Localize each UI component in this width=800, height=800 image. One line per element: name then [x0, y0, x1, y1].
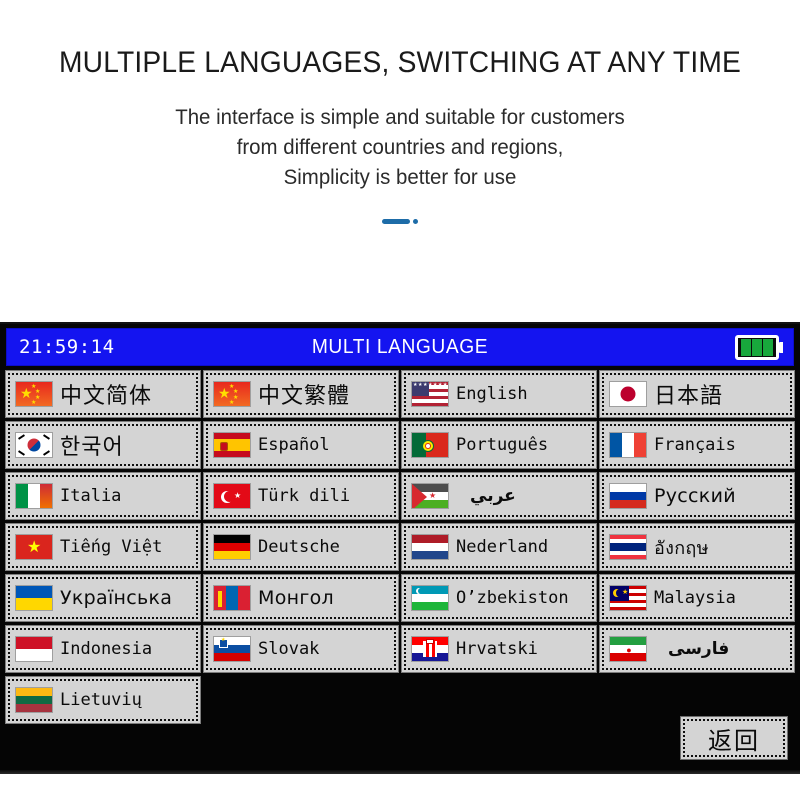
language-button[interactable]: 한국어	[5, 421, 201, 469]
language-button[interactable]: อังกฤษ	[599, 523, 795, 571]
indonesia-flag	[15, 636, 53, 662]
thailand-flag	[609, 534, 647, 560]
portugal-flag	[411, 432, 449, 458]
language-button-label: English	[456, 384, 528, 404]
china-flag: ★★★★★	[213, 381, 251, 407]
arabic-flag: ★	[411, 483, 449, 509]
language-button-label: Deutsche	[258, 537, 340, 557]
language-button-label: Lietuvių	[60, 690, 142, 710]
language-button[interactable]: Монгол	[203, 574, 399, 622]
germany-flag	[213, 534, 251, 560]
vietnam-flag: ★	[15, 534, 53, 560]
japan-flag	[609, 381, 647, 407]
language-button[interactable]: Deutsche	[203, 523, 399, 571]
mongolia-flag	[213, 585, 251, 611]
language-button-label: Indonesia	[60, 639, 152, 659]
language-button-label: Русский	[654, 485, 736, 507]
language-button-label: O’zbekiston	[456, 588, 569, 608]
language-button-label: Malaysia	[654, 588, 736, 608]
language-button-label: Slovak	[258, 639, 319, 659]
status-bar: 21:59:14 MULTI LANGUAGE	[6, 328, 794, 366]
language-button[interactable]: ★★★★★中文繁體	[203, 370, 399, 418]
screen-title: MULTI LANGUAGE	[23, 336, 778, 359]
language-button-label: Français	[654, 435, 736, 455]
language-button[interactable]: ●فارسی	[599, 625, 795, 673]
language-button-label: Монгол	[258, 587, 334, 609]
language-button[interactable]: Русский	[599, 472, 795, 520]
language-button[interactable]: Nederland	[401, 523, 597, 571]
language-button-label: อังกฤษ	[654, 533, 709, 562]
language-button-label: فارسی	[668, 639, 729, 659]
language-button-label: 中文繁體	[258, 378, 350, 410]
language-button[interactable]: 日本語	[599, 370, 795, 418]
spain-flag	[213, 432, 251, 458]
language-button-label: Українська	[60, 587, 172, 609]
promo-header: MULTIPLE LANGUAGES, SWITCHING AT ANY TIM…	[0, 0, 800, 230]
language-button-label: 한국어	[60, 429, 124, 461]
southkorea-flag	[15, 432, 53, 458]
france-flag	[609, 432, 647, 458]
language-button-label: Português	[456, 435, 548, 455]
language-button[interactable]: ★Türk dili	[203, 472, 399, 520]
language-button-label: Español	[258, 435, 330, 455]
lithuania-flag	[15, 687, 53, 713]
language-button[interactable]: Italia	[5, 472, 201, 520]
slovenia-flag: ★	[213, 636, 251, 662]
china-flag: ★★★★★	[15, 381, 53, 407]
promo-subtitle-line-3: Simplicity is better for use	[20, 162, 780, 192]
language-button-label: Nederland	[456, 537, 548, 557]
language-button[interactable]: ★★★★★★★★★★★★★★★English	[401, 370, 597, 418]
language-button-label: عربي	[470, 486, 516, 506]
back-button[interactable]: 返回	[680, 716, 788, 760]
ukraine-flag	[15, 585, 53, 611]
language-grid: ★★★★★中文简体★★★★★中文繁體★★★★★★★★★★★★★★★English…	[5, 370, 795, 724]
malaysia-flag: ★	[609, 585, 647, 611]
battery-nub	[779, 342, 783, 353]
croatia-flag	[411, 636, 449, 662]
uzbekistan-flag	[411, 585, 449, 611]
language-button[interactable]: Lietuvių	[5, 676, 201, 724]
back-button-label: 返回	[708, 721, 760, 756]
turkey-flag: ★	[213, 483, 251, 509]
language-button-label: Italia	[60, 486, 121, 506]
language-button-label: Tiếng Việt	[60, 537, 162, 557]
language-button[interactable]: Українська	[5, 574, 201, 622]
language-button[interactable]: ★★★★★中文简体	[5, 370, 201, 418]
promo-subtitle-line-2: from different countries and regions,	[20, 132, 780, 162]
divider-bar	[382, 219, 410, 224]
battery-icon	[735, 335, 783, 360]
battery-shell	[735, 335, 779, 360]
iran-flag: ●	[609, 636, 647, 662]
russia-flag	[609, 483, 647, 509]
language-button[interactable]: O’zbekiston	[401, 574, 597, 622]
promo-subtitle: The interface is simple and suitable for…	[20, 102, 780, 192]
language-button[interactable]: Português	[401, 421, 597, 469]
battery-cell	[752, 339, 762, 356]
language-button[interactable]: Hrvatski	[401, 625, 597, 673]
divider-dot	[413, 219, 418, 224]
language-button-label: Türk dili	[258, 486, 350, 506]
italy-flag	[15, 483, 53, 509]
battery-cell	[763, 339, 773, 356]
language-button[interactable]: Indonesia	[5, 625, 201, 673]
language-button[interactable]: Français	[599, 421, 795, 469]
language-button[interactable]: ★عربي	[401, 472, 597, 520]
netherlands-flag	[411, 534, 449, 560]
language-button[interactable]: Español	[203, 421, 399, 469]
accent-divider	[379, 212, 421, 230]
battery-cell	[741, 339, 751, 356]
device-screen: 21:59:14 MULTI LANGUAGE ★★★★★中文简体★★★★★中文…	[0, 322, 800, 774]
language-button-label: 中文简体	[60, 378, 152, 410]
language-button[interactable]: ★Tiếng Việt	[5, 523, 201, 571]
page-title: MULTIPLE LANGUAGES, SWITCHING AT ANY TIM…	[24, 46, 776, 80]
usa-flag: ★★★★★★★★★★★★★★★	[411, 381, 449, 407]
language-button-label: 日本語	[654, 378, 723, 410]
language-button[interactable]: ★Slovak	[203, 625, 399, 673]
language-button-label: Hrvatski	[456, 639, 538, 659]
promo-subtitle-line-1: The interface is simple and suitable for…	[20, 102, 780, 132]
language-button[interactable]: ★Malaysia	[599, 574, 795, 622]
